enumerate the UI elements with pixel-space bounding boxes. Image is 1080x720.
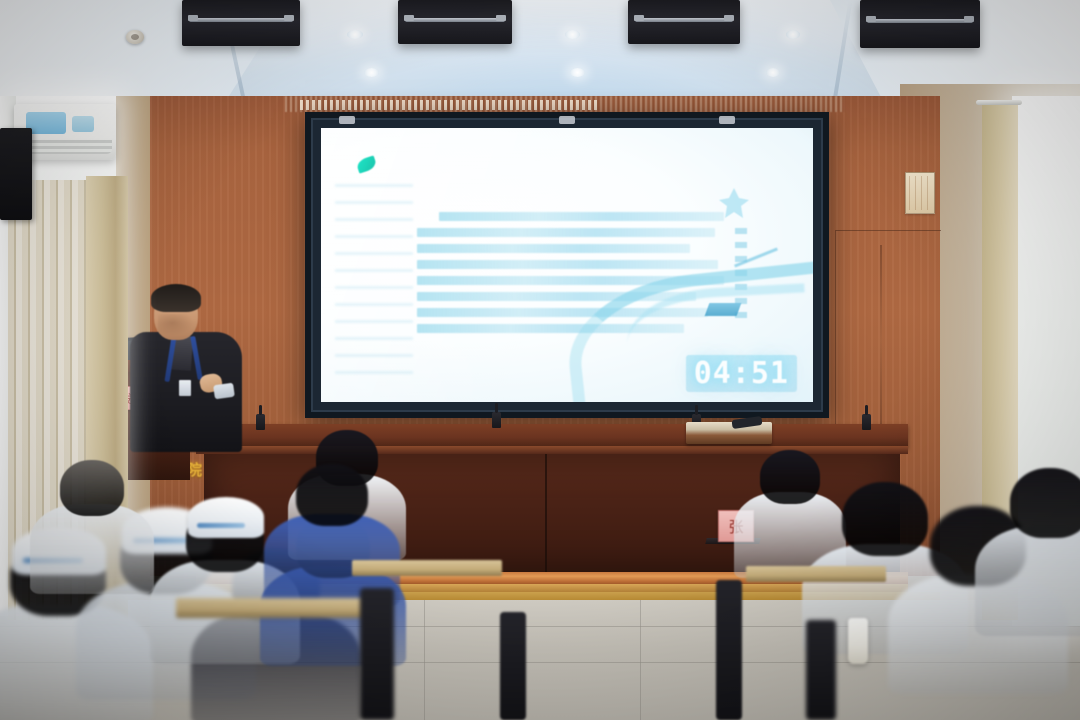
desk-front-left (176, 598, 366, 618)
desk-mid-left (352, 560, 502, 576)
chair-right-2[interactable] (806, 620, 836, 720)
fixture-bar (405, 18, 505, 22)
fixture-bar (189, 18, 293, 22)
fixture-tab-1 (634, 15, 644, 21)
fixture-bar (867, 19, 973, 23)
downlight-2 (565, 30, 580, 39)
downlight-6 (766, 68, 780, 77)
p-mid-left-1-cap-band (197, 523, 245, 528)
projection-screen: 04:51 (305, 112, 829, 418)
ceiling-light-fixture-3 (628, 0, 740, 44)
wall-loudspeaker (0, 128, 32, 220)
wall-door-outline[interactable] (835, 230, 941, 431)
fixture-tab-2 (724, 15, 734, 21)
screen-mount-right (719, 116, 735, 124)
fixture-bar (635, 18, 734, 22)
ceiling-light-fixture-4 (860, 0, 980, 48)
downlight-4 (364, 68, 379, 77)
fixture-tab-2 (284, 15, 294, 21)
fixture-tab-1 (404, 15, 414, 21)
fixture-tab-2 (964, 16, 974, 22)
slide-text-line-1 (439, 212, 724, 221)
smoke-detector-icon (126, 30, 144, 44)
slide-text-line-4 (417, 260, 718, 269)
audience-seating (0, 420, 1080, 720)
air-conditioner-display (26, 112, 66, 134)
wall-slat-strip-highlight (300, 100, 600, 110)
fixture-tab-1 (188, 15, 198, 21)
p-mid-right-1-head (842, 482, 928, 556)
fixture-tab-1 (866, 16, 876, 22)
fixture-tab-2 (496, 15, 506, 21)
slide-side-text-block (335, 184, 413, 374)
p-mid-left-3-torso (30, 504, 154, 594)
ceiling-light-fixture-2 (398, 0, 512, 44)
ceiling-light-fixture-1 (182, 0, 300, 46)
p-mid-left-3-head (60, 460, 124, 516)
p-front-right-2-torso (975, 526, 1080, 636)
air-conditioner-display-secondary (72, 116, 94, 132)
wall-switch-plate[interactable] (905, 172, 935, 214)
door-seam (880, 245, 882, 435)
presenter-cuff (213, 383, 235, 400)
screen-mount-left (339, 116, 355, 124)
screen-mount-center (559, 116, 575, 124)
water-bottle[interactable] (848, 618, 868, 664)
downlight-1 (347, 30, 363, 39)
slide-medical-emblem-icon (717, 186, 751, 226)
slide-surface: 04:51 (321, 128, 813, 402)
slide-text-line-3 (417, 244, 690, 253)
downlight-5 (570, 68, 585, 77)
chair-right-1[interactable] (716, 580, 742, 720)
curtain-rod (976, 100, 1022, 105)
presenter-face-shadow (158, 314, 194, 336)
p-back-right-1-head (760, 450, 820, 504)
conference-hall-photo: 04:51 州 民医院 张 发言席 (0, 0, 1080, 720)
slide-text-line-2 (417, 228, 715, 237)
p-back-left-2-head (296, 464, 368, 526)
p-front-right-2-head (1010, 468, 1080, 538)
countdown-timer: 04:51 (686, 355, 797, 392)
presenter-badge (179, 380, 191, 396)
presenter-hair (151, 284, 201, 312)
p-mid-left-1-nurse-cap (188, 497, 264, 538)
downlight-3 (786, 30, 800, 39)
chair-left-1[interactable] (360, 588, 394, 720)
desk-mid-right (746, 566, 886, 582)
chair-left-2[interactable] (500, 612, 526, 720)
